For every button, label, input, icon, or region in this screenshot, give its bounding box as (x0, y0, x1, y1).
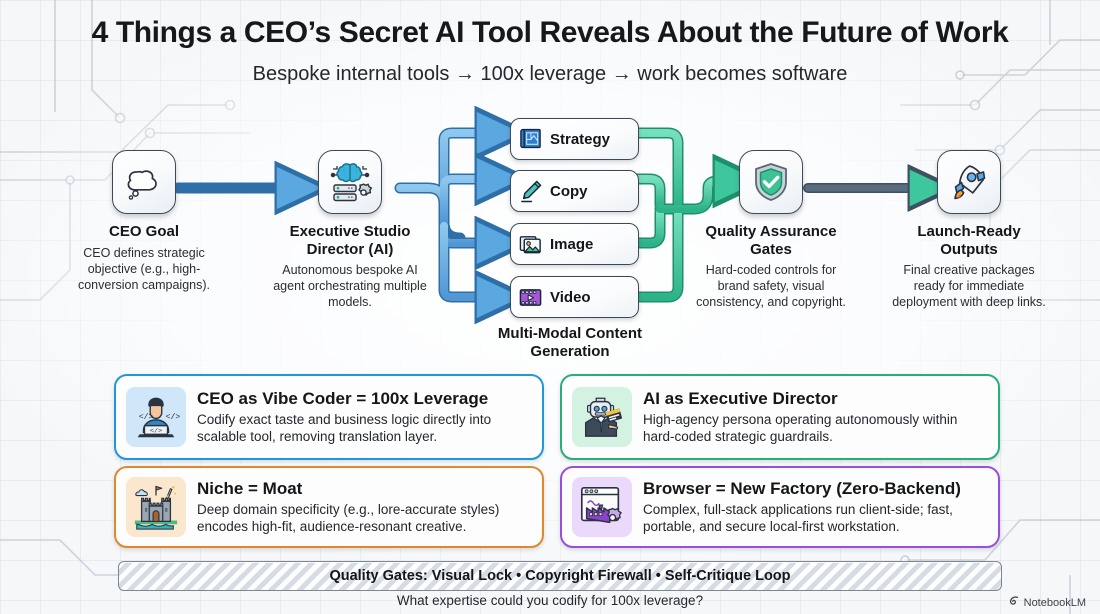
card-title: CEO as Vibe Coder = 100x Leverage (197, 389, 532, 409)
chip-label: Image (550, 236, 593, 253)
insight-card-niche-moat[interactable]: Niche = Moat Deep domain specificity (e.… (114, 466, 544, 548)
infographic-canvas: 4 Things a CEO’s Secret AI Tool Reveals … (0, 0, 1100, 614)
closing-question: What expertise could you codify for 100x… (0, 593, 1100, 608)
content-chip-copy[interactable]: Copy (510, 170, 639, 212)
card-desc: Codify exact taste and business logic di… (197, 411, 532, 445)
notebooklm-watermark: NotebookLM (1008, 595, 1086, 610)
card-title: Niche = Moat (197, 479, 532, 499)
card-desc: Deep domain specificity (e.g., lore-accu… (197, 501, 532, 535)
card-title: AI as Executive Director (643, 389, 988, 409)
blueprint-icon (518, 127, 543, 152)
svg-text:</>: </> (150, 427, 162, 435)
browser-factory-icon (572, 477, 632, 537)
content-chip-video[interactable]: Video (510, 276, 639, 318)
node-desc: Final creative packages ready for immedi… (888, 262, 1050, 310)
node-title: Launch-Ready Outputs (888, 223, 1050, 258)
node-desc: CEO defines strategic objective (e.g., h… (64, 245, 224, 293)
watermark-label: NotebookLM (1024, 597, 1086, 609)
chip-label: Copy (550, 183, 588, 200)
node-title: Executive Studio Director (AI) (268, 223, 432, 258)
card-title: Browser = New Factory (Zero-Backend) (643, 479, 988, 499)
notebooklm-logo-icon (1008, 595, 1020, 610)
node-title: CEO Goal (64, 223, 224, 241)
svg-text:</>: </> (166, 412, 181, 422)
multimodal-group-label: Multi-Modal Content Generation (460, 325, 680, 361)
node-title: Quality Assurance Gates (690, 223, 852, 258)
insight-card-ceo-vibe-coder[interactable]: </> </> </> CEO as Vibe Coder = 100x Lev… (114, 374, 544, 460)
coder-avatar-icon: </> </> </> (126, 387, 186, 447)
quality-gates-text: Quality Gates: Visual Lock • Copyright F… (329, 568, 790, 584)
card-desc: High-agency persona operating autonomous… (643, 411, 988, 445)
content-chip-image[interactable]: Image (510, 223, 639, 265)
chip-label: Video (550, 289, 591, 306)
node-desc: Autonomous bespoke AI agent orchestratin… (268, 262, 432, 310)
shield-check-icon (739, 150, 803, 214)
ai-brain-server-icon (318, 150, 382, 214)
content-chip-strategy[interactable]: Strategy (510, 118, 639, 160)
svg-text:</>: </> (139, 412, 154, 422)
flow-node-executive-studio-director[interactable]: Executive Studio Director (AI) Autonomou… (268, 150, 432, 310)
castle-moat-icon (126, 477, 186, 537)
insight-card-browser-new-factory[interactable]: Browser = New Factory (Zero-Backend) Com… (560, 466, 1000, 548)
chip-label: Strategy (550, 131, 610, 148)
thought-bubble-icon (112, 150, 176, 214)
robot-director-icon (572, 387, 632, 447)
photo-icon (518, 232, 543, 257)
quality-gates-bar: Quality Gates: Visual Lock • Copyright F… (118, 561, 1002, 591)
node-desc: Hard-coded controls for brand safety, vi… (690, 262, 852, 310)
film-play-icon (518, 285, 543, 310)
pen-icon (518, 179, 543, 204)
flow-node-ceo-goal[interactable]: CEO Goal CEO defines strategic objective… (64, 150, 224, 293)
flow-node-quality-assurance-gates[interactable]: Quality Assurance Gates Hard-coded contr… (690, 150, 852, 310)
flow-node-launch-ready-outputs[interactable]: Launch-Ready Outputs Final creative pack… (888, 150, 1050, 310)
rocket-icon (937, 150, 1001, 214)
insight-card-ai-executive-director[interactable]: AI as Executive Director High-agency per… (560, 374, 1000, 460)
card-desc: Complex, full-stack applications run cli… (643, 501, 988, 535)
